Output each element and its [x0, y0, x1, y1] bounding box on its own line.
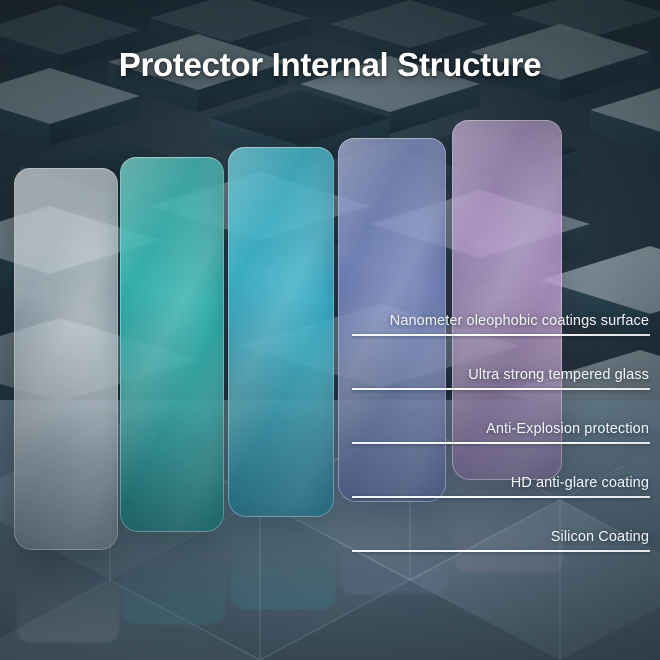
callout-hd-anti-glare-coating: HD anti-glare coating — [352, 475, 650, 498]
callout-underline — [352, 496, 650, 498]
callout-label: Ultra strong tempered glass — [352, 367, 650, 383]
callout-label: Nanometer oleophobic coatings surface — [352, 313, 650, 329]
callout-list: Nanometer oleophobic coatings surface Ul… — [0, 0, 660, 660]
callout-label: Anti-Explosion protection — [352, 421, 650, 437]
callout-anti-explosion-protection: Anti-Explosion protection — [352, 421, 650, 444]
callout-underline — [352, 442, 650, 444]
product-infographic: Protector Internal Structure Nanometer o… — [0, 0, 660, 660]
callout-label: Silicon Coating — [352, 529, 650, 545]
callout-silicon-coating: Silicon Coating — [352, 529, 650, 552]
callout-ultra-strong-tempered-glass: Ultra strong tempered glass — [352, 367, 650, 390]
callout-label: HD anti-glare coating — [352, 475, 650, 491]
callout-underline — [352, 334, 650, 336]
callout-underline — [352, 550, 650, 552]
callout-nanometer-oleophobic-coatings-surface: Nanometer oleophobic coatings surface — [352, 313, 650, 336]
callout-underline — [352, 388, 650, 390]
